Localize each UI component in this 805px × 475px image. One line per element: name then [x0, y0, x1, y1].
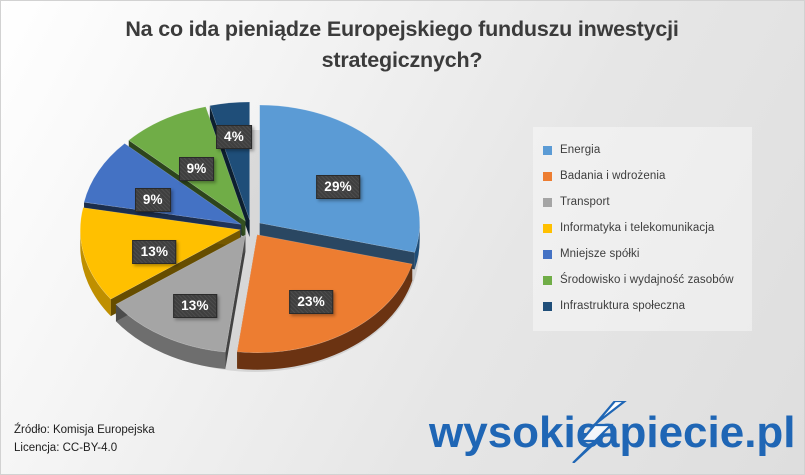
pie-chart-svg	[38, 78, 488, 388]
legend-swatch-icon	[543, 198, 552, 207]
legend-item-label: Informatyka i telekomunikacja	[560, 222, 714, 234]
legend-swatch-icon	[543, 224, 552, 233]
legend-swatch-icon	[543, 276, 552, 285]
chart-title-line-2: strategicznych?	[322, 48, 483, 72]
pie-data-label: 4%	[216, 125, 252, 149]
pie-chart-plot-area: 29%23%13%13%9%9%4%	[38, 78, 488, 388]
legend-item[interactable]: Środowisko i wydajność zasobów	[543, 267, 744, 293]
chart-canvas: Na co ida pieniądze Europejskiego fundus…	[0, 0, 805, 475]
logo-text-after: apiecie.pl	[595, 408, 796, 457]
pie-data-label: 13%	[173, 294, 217, 318]
legend-item-label: Infrastruktura społeczna	[560, 300, 685, 312]
wysokienapiecie-logo[interactable]: wysokie apiecie.pl	[425, 401, 797, 463]
legend-item-label: Badania i wdrożenia	[560, 170, 665, 182]
legend-swatch-icon	[543, 146, 552, 155]
legend-item[interactable]: Badania i wdrożenia	[543, 163, 744, 189]
pie-data-label: 9%	[179, 157, 215, 181]
source-note: Źródło: Komisja Europejska Licencja: CC-…	[14, 422, 155, 458]
legend-item[interactable]: Transport	[543, 189, 744, 215]
legend-item[interactable]: Mniejsze spółki	[543, 241, 744, 267]
legend-item[interactable]: Energia	[543, 137, 744, 163]
legend-item-label: Energia	[560, 144, 600, 156]
pie-data-label: 9%	[135, 188, 171, 212]
license-line: Licencja: CC-BY-4.0	[14, 440, 155, 458]
source-line: Źródło: Komisja Europejska	[14, 422, 155, 440]
chart-legend: EnergiaBadania i wdrożeniaTransportInfor…	[533, 127, 752, 331]
legend-item-label: Środowisko i wydajność zasobów	[560, 274, 734, 286]
legend-swatch-icon	[543, 250, 552, 259]
legend-item[interactable]: Informatyka i telekomunikacja	[543, 215, 744, 241]
chart-title: Na co ida pieniądze Europejskiego fundus…	[52, 14, 752, 75]
legend-item-label: Mniejsze spółki	[560, 248, 639, 260]
pie-data-label: 29%	[316, 175, 360, 199]
chart-title-line-1: Na co ida pieniądze Europejskiego fundus…	[125, 17, 678, 41]
pie-data-label: 23%	[289, 290, 333, 314]
legend-item[interactable]: Infrastruktura społeczna	[543, 293, 744, 319]
legend-item-label: Transport	[560, 196, 610, 208]
logo-text-before: wysokie	[428, 408, 600, 457]
legend-swatch-icon	[543, 302, 552, 311]
logo-svg: wysokie apiecie.pl	[425, 401, 797, 463]
legend-swatch-icon	[543, 172, 552, 181]
pie-data-label: 13%	[133, 240, 177, 264]
